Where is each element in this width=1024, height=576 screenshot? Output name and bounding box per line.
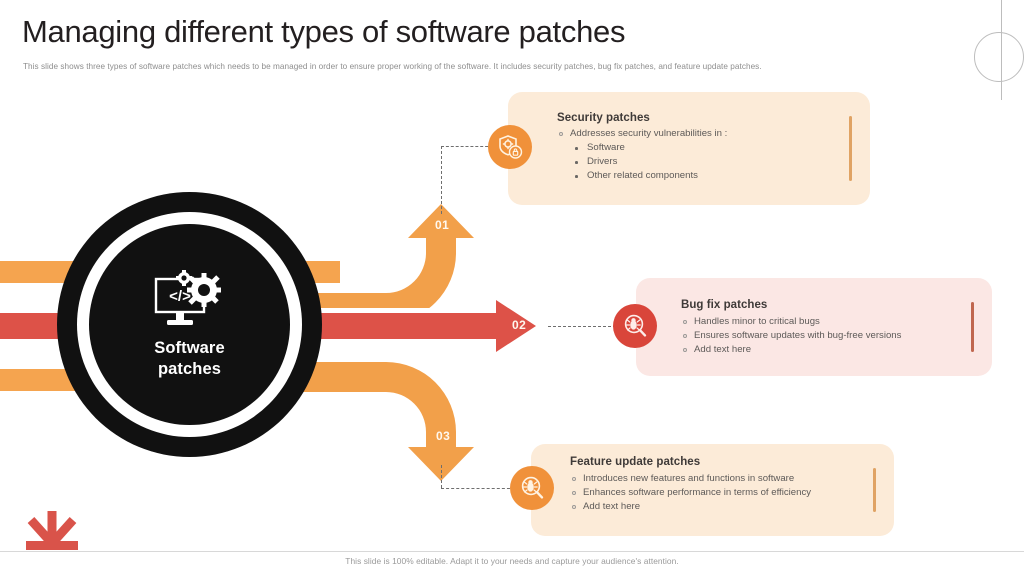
shield-gear-lock-icon — [497, 134, 523, 160]
hub-label-line2: patches — [154, 359, 224, 380]
bug-magnifier-icon — [519, 475, 545, 501]
list-item: Add text here — [681, 343, 901, 357]
list-item: Drivers — [557, 155, 698, 169]
card-title-feature-update: Feature update patches — [570, 456, 700, 468]
bug-fix-icon-badge — [613, 304, 657, 348]
connector-03-horizontal — [441, 488, 515, 489]
step-number-02: 02 — [512, 318, 526, 332]
list-item: Other related components — [557, 169, 698, 183]
circle-outline-icon — [974, 32, 1024, 82]
card-title-bug-fix: Bug fix patches — [681, 299, 767, 311]
hub-label-line1: Software — [154, 338, 224, 359]
footer-divider — [0, 551, 1024, 552]
slide-canvas: Managing different types of software pat… — [0, 0, 1024, 576]
card-accent-bar — [849, 116, 852, 181]
hub-label: Software patches — [154, 338, 224, 379]
feature-update-icon-badge — [510, 466, 554, 510]
connector-01-horizontal — [441, 146, 493, 147]
card-bullets-bug-fix: Handles minor to critical bugs Ensures s… — [681, 315, 901, 358]
monitor-code-gear-icon: </> — [151, 270, 229, 332]
list-item: Enhances software performance in terms o… — [570, 486, 811, 500]
page-title: Managing different types of software pat… — [22, 14, 625, 50]
list-item: Software — [557, 141, 698, 155]
card-accent-bar — [873, 468, 876, 512]
security-patch-icon-badge — [488, 125, 532, 169]
list-item: Addresses security vulnerabilities in : — [557, 127, 727, 141]
connector-01-vertical — [441, 146, 442, 214]
card-subbullets-security: Software Drivers Other related component… — [557, 141, 698, 184]
list-item: Ensures software updates with bug-free v… — [681, 329, 901, 343]
list-item: Introduces new features and functions in… — [570, 472, 811, 486]
connector-02-horizontal — [548, 326, 616, 327]
list-item: Add text here — [570, 500, 811, 514]
connector-03-vertical — [441, 465, 442, 488]
page-subtitle: This slide shows three types of software… — [23, 62, 903, 72]
step-number-01: 01 — [435, 218, 449, 232]
bug-magnifier-icon — [622, 313, 648, 339]
footer-note: This slide is 100% editable. Adapt it to… — [0, 556, 1024, 566]
step-number-03: 03 — [436, 429, 450, 443]
hub-core: </> — [89, 224, 290, 425]
card-accent-bar — [971, 302, 974, 352]
card-title-security: Security patches — [557, 112, 650, 124]
card-bullets-security: Addresses security vulnerabilities in : — [557, 127, 727, 141]
card-bullets-feature-update: Introduces new features and functions in… — [570, 472, 811, 515]
converging-arrows-icon — [16, 503, 88, 558]
list-item: Handles minor to critical bugs — [681, 315, 901, 329]
